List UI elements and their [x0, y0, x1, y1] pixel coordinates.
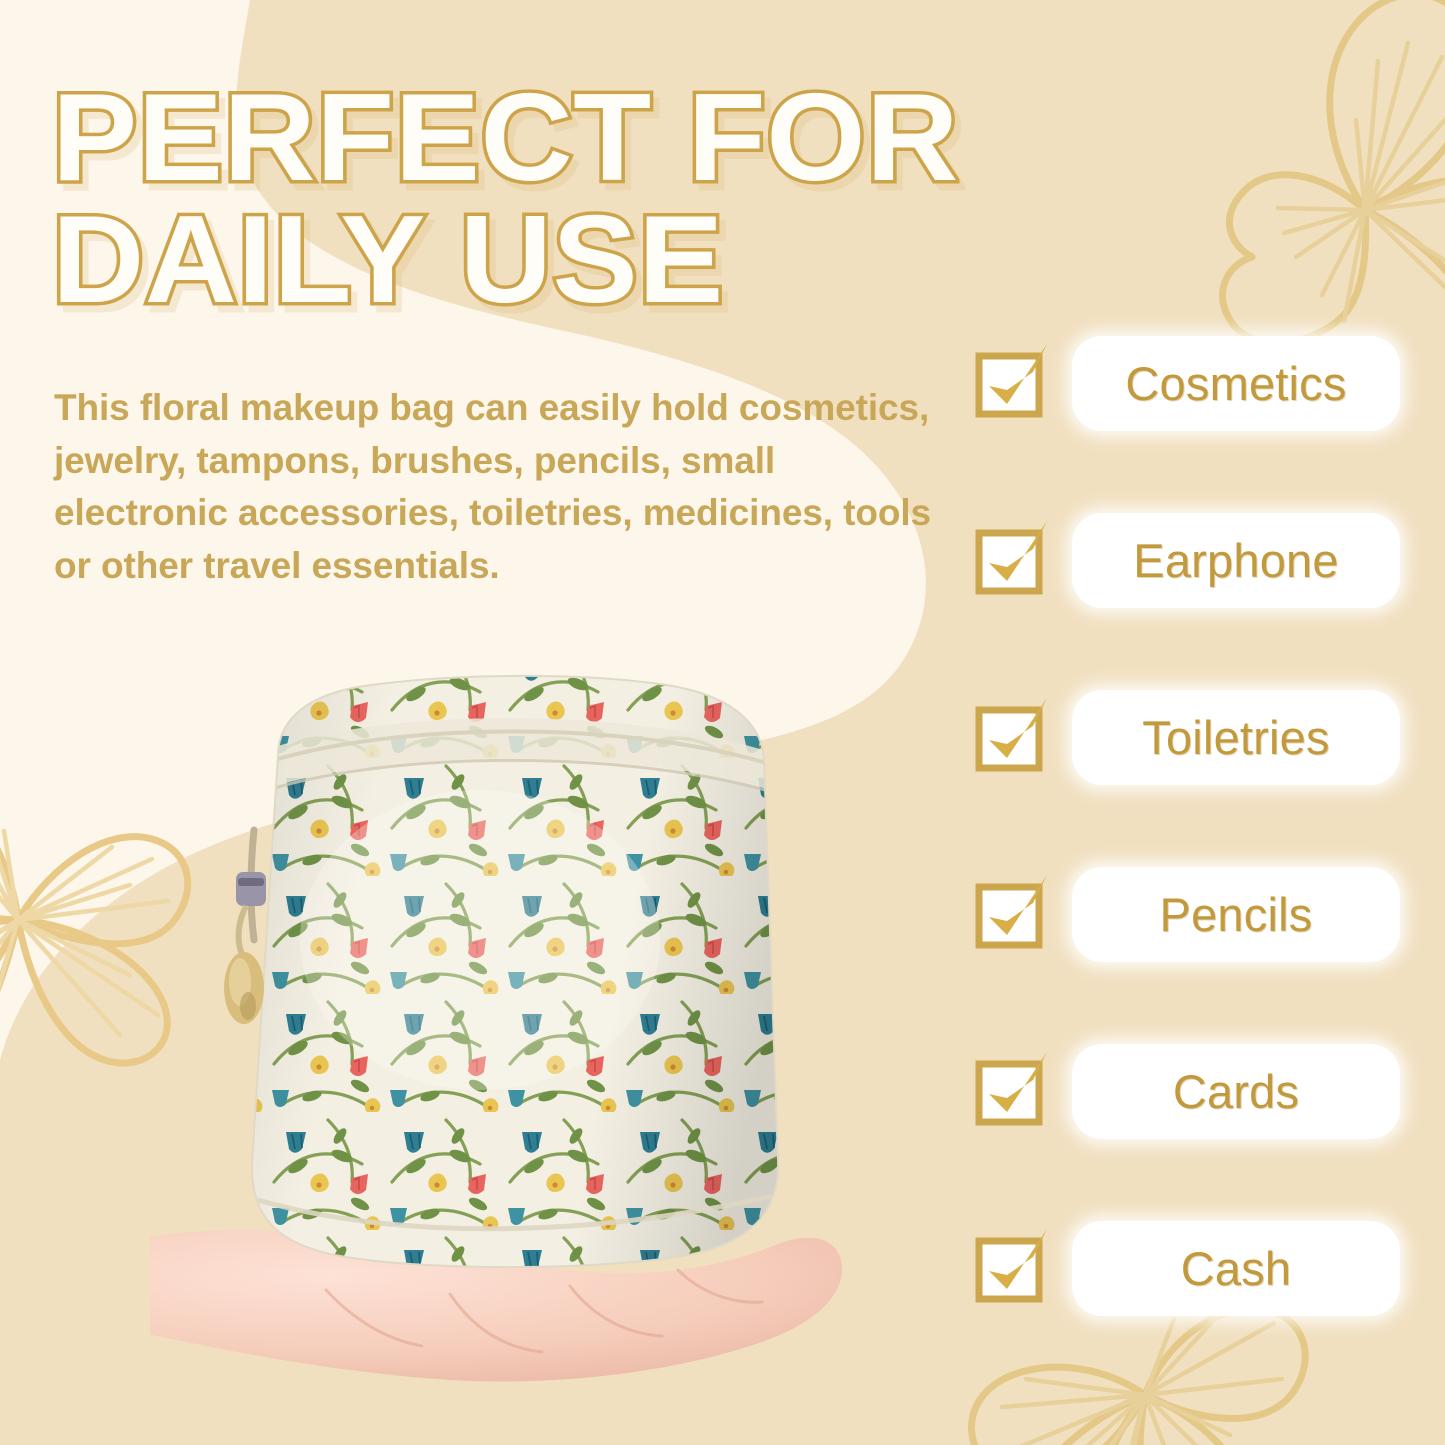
checkbox-checked-icon[interactable]: [975, 1054, 1053, 1126]
feature-label: Pencils: [1160, 887, 1313, 942]
feature-pill[interactable]: Toiletries: [1072, 690, 1400, 785]
feature-pill[interactable]: Cash: [1072, 1221, 1400, 1316]
feature-label: Toiletries: [1142, 710, 1329, 765]
feature-pill[interactable]: Pencils: [1072, 867, 1400, 962]
feature-label: Cash: [1181, 1241, 1292, 1296]
checkbox-checked-icon[interactable]: [975, 877, 1053, 949]
checkbox-checked-icon[interactable]: [975, 700, 1053, 772]
feature-label: Cards: [1173, 1064, 1299, 1119]
feature-pill[interactable]: Cosmetics: [1072, 336, 1400, 431]
feature-label: Earphone: [1133, 533, 1338, 588]
checkbox-checked-icon[interactable]: [975, 346, 1053, 418]
checklist-row[interactable]: Pencils: [963, 861, 1433, 1038]
infographic-canvas: PERFECT FOR DAILY USE This floral makeup…: [0, 0, 1445, 1445]
makeup-bag: [230, 660, 810, 1300]
checklist-row[interactable]: Cosmetics: [963, 330, 1433, 507]
description-paragraph: This floral makeup bag can easily hold c…: [54, 382, 954, 592]
feature-label: Cosmetics: [1125, 356, 1346, 411]
checkbox-checked-icon[interactable]: [975, 523, 1053, 595]
feature-pill[interactable]: Cards: [1072, 1044, 1400, 1139]
product-image: [150, 640, 870, 1400]
hibiscus-outline-icon-top-right: [1160, 0, 1445, 355]
checklist-row[interactable]: Cards: [963, 1038, 1433, 1215]
zipper-pull-icon: [224, 830, 266, 1024]
checklist-row[interactable]: Cash: [963, 1215, 1433, 1392]
feature-checklist: Cosmetics Earphone Toiletr: [963, 330, 1433, 1392]
checkbox-checked-icon[interactable]: [975, 1231, 1053, 1303]
checklist-row[interactable]: Earphone: [963, 507, 1433, 684]
checklist-row[interactable]: Toiletries: [963, 684, 1433, 861]
feature-pill[interactable]: Earphone: [1072, 513, 1400, 608]
page-title: PERFECT FOR DAILY USE: [52, 78, 1020, 321]
